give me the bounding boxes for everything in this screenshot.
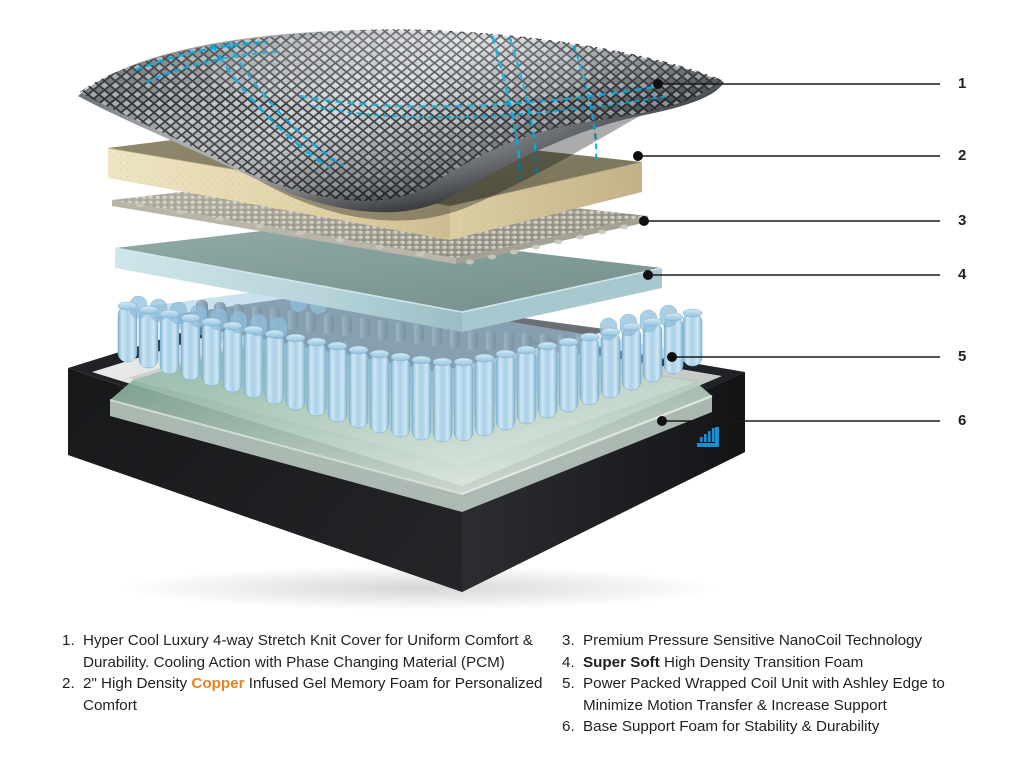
legend-item-right-3: 5.Power Packed Wrapped Coil Unit with As… (562, 673, 982, 716)
legend-text-segment: Base Support Foam for Stability & Durabi… (583, 718, 879, 735)
callout-dot-5 (667, 352, 677, 362)
callout-dot-1 (653, 79, 663, 89)
legend-item-right-1: 3.Premium Pressure Sensitive NanoCoil Te… (562, 630, 982, 652)
callout-dot-6 (657, 416, 667, 426)
legend-item-marker: 5. (562, 673, 583, 695)
callout-number-6: 6 (958, 413, 967, 428)
legend-item-marker: 4. (562, 652, 583, 674)
legend-item-left-2: 2.2" High Density Copper Infused Gel Mem… (62, 673, 552, 716)
legend-highlight-copper: Copper (191, 675, 244, 692)
callout-dot-4 (643, 270, 653, 280)
legend-item-marker: 2. (62, 673, 83, 695)
legend-item-text: Premium Pressure Sensitive NanoCoil Tech… (583, 630, 982, 652)
legend-item-right-4: 6.Base Support Foam for Stability & Dura… (562, 716, 982, 738)
legend-item-text: Super Soft High Density Transition Foam (583, 652, 982, 674)
legend-text-segment: Power Packed Wrapped Coil Unit with Ashl… (583, 675, 945, 714)
legend-item-right-2: 4.Super Soft High Density Transition Foa… (562, 652, 982, 674)
legend-item-text: Power Packed Wrapped Coil Unit with Ashl… (583, 673, 982, 716)
legend-item-text: Base Support Foam for Stability & Durabi… (583, 716, 982, 738)
callout-number-5: 5 (958, 349, 967, 364)
legend-item-text: Hyper Cool Luxury 4-way Stretch Knit Cov… (83, 630, 552, 673)
legend-item-marker: 6. (562, 716, 583, 738)
callout-number-2: 2 (958, 148, 967, 163)
legend-item-marker: 3. (562, 630, 583, 652)
legend-column-left: 1.Hyper Cool Luxury 4-way Stretch Knit C… (62, 630, 552, 716)
legend: 1.Hyper Cool Luxury 4-way Stretch Knit C… (0, 630, 1024, 768)
legend-highlight-bold: Super Soft (583, 654, 660, 671)
callout-number-3: 3 (958, 213, 967, 228)
legend-item-marker: 1. (62, 630, 83, 652)
mattress-diagram-page: 1 2 3 4 5 6 1.Hyper Cool Luxury 4-way St… (0, 0, 1024, 768)
legend-column-right: 3.Premium Pressure Sensitive NanoCoil Te… (562, 630, 982, 738)
legend-text-segment: Hyper Cool Luxury 4-way Stretch Knit Cov… (83, 632, 533, 671)
callout-number-1: 1 (958, 76, 967, 91)
legend-item-text: 2" High Density Copper Infused Gel Memor… (83, 673, 552, 716)
legend-text-segment: Premium Pressure Sensitive NanoCoil Tech… (583, 632, 922, 649)
callout-number-4: 4 (958, 267, 967, 282)
callout-dot-3 (639, 216, 649, 226)
legend-text-segment: 2" High Density (83, 675, 191, 692)
legend-item-left-1: 1.Hyper Cool Luxury 4-way Stretch Knit C… (62, 630, 552, 673)
legend-text-segment: High Density Transition Foam (660, 654, 863, 671)
callout-dot-2 (633, 151, 643, 161)
mattress-exploded-diagram (0, 0, 1024, 620)
